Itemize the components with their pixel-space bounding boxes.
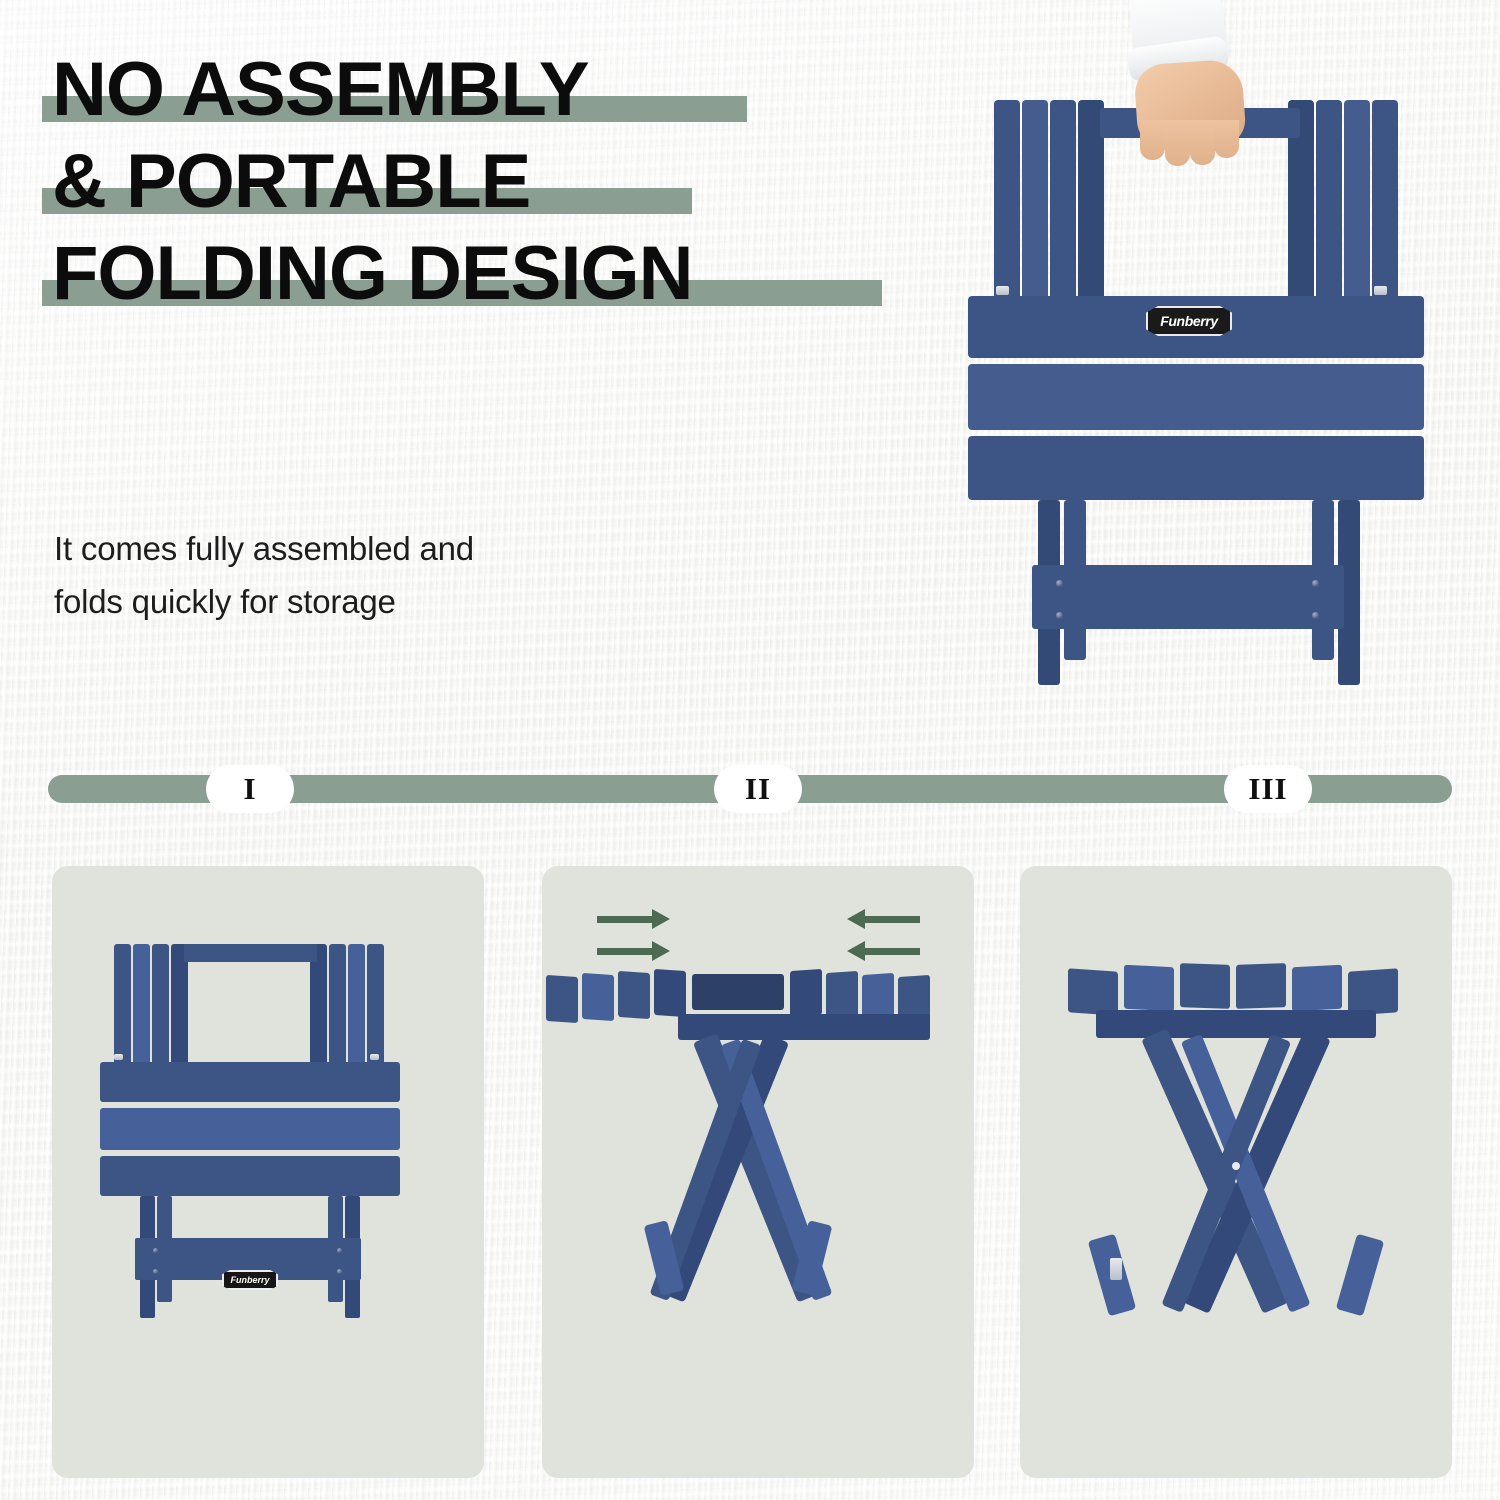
step-panel-1-folded: Funberry — [52, 866, 484, 1478]
arrow-left-icon — [864, 916, 920, 923]
screw — [153, 1269, 158, 1274]
headline-line-3-text: FOLDING DESIGN — [52, 231, 692, 316]
hinge-clip — [370, 1054, 379, 1060]
panel2-top-slat — [826, 971, 858, 1019]
hero-vertical-slat — [994, 100, 1020, 298]
hand-finger — [1214, 120, 1239, 158]
step-panel-2-unfolding — [542, 866, 974, 1478]
step-marker-2[interactable]: II — [714, 765, 802, 813]
panel1-vertical-slat — [329, 944, 346, 1064]
panel3-foot — [1336, 1234, 1384, 1317]
screw — [153, 1248, 158, 1253]
arrow-right-icon — [597, 916, 653, 923]
screw — [337, 1248, 342, 1253]
panel3-top-slat — [1348, 968, 1398, 1015]
panel2-top-slat — [582, 973, 614, 1021]
hinge-clip — [1374, 286, 1387, 295]
panel1-handle-bar — [184, 944, 317, 962]
latch-clip — [1110, 1258, 1122, 1280]
hero-vertical-slat — [1316, 100, 1342, 298]
headline-line-1: NO ASSEMBLY — [52, 52, 589, 128]
arrow-left-icon — [864, 948, 920, 955]
panel3-top-slat — [1124, 965, 1174, 1012]
panel3-top-slat — [1068, 968, 1118, 1015]
hero-table-slat — [968, 364, 1424, 430]
panel3-apron — [1096, 1010, 1376, 1038]
screw — [1312, 580, 1319, 587]
hinge-clip — [996, 286, 1009, 295]
hero-vertical-slat — [1344, 100, 1370, 298]
panel1-brand-badge: Funberry — [222, 1270, 278, 1290]
headline-line-1-text: NO ASSEMBLY — [52, 47, 589, 132]
hero-vertical-slat — [1372, 100, 1398, 298]
screw — [1056, 580, 1063, 587]
step-panel-3-open — [1020, 866, 1452, 1478]
step-marker-2-label: II — [745, 771, 771, 807]
panel1-vertical-slat — [114, 944, 131, 1064]
brand-badge: Funberry — [1146, 306, 1232, 336]
panel1-vertical-slat — [348, 944, 365, 1064]
subtext-line-2: folds quickly for storage — [54, 575, 474, 628]
panel2-top-slat — [618, 971, 650, 1019]
panel1-table-slat — [100, 1062, 400, 1102]
panel3-top-slat — [1180, 963, 1230, 1009]
headline-line-2: & PORTABLE — [52, 144, 530, 220]
subtext-line-1: It comes fully assembled and — [54, 522, 474, 575]
step-marker-3-label: III — [1248, 771, 1287, 807]
panel2-top-slat — [790, 969, 822, 1017]
panel1-vertical-slat — [133, 944, 150, 1064]
screw — [337, 1269, 342, 1274]
panel2-top-slat — [654, 969, 686, 1017]
hero-cross-rail — [1032, 565, 1344, 629]
subtext-block: It comes fully assembled and folds quick… — [54, 522, 474, 629]
panel1-table-slat — [100, 1156, 400, 1196]
step-marker-1-label: I — [243, 771, 256, 807]
headline-line-2-text: & PORTABLE — [52, 139, 530, 224]
screw — [1312, 612, 1319, 619]
hero-vertical-slat — [1050, 100, 1076, 298]
hero-table-slat — [968, 436, 1424, 500]
panel1-vertical-slat — [171, 944, 188, 1064]
screw — [1056, 612, 1063, 619]
hand-finger — [1165, 120, 1190, 166]
step-progress-bar: I II III — [48, 775, 1452, 803]
headline-line-3: FOLDING DESIGN — [52, 236, 692, 312]
hand-finger — [1190, 120, 1215, 165]
panel1-brand-label: Funberry — [230, 1275, 269, 1285]
panel3-top-slat — [1236, 963, 1286, 1009]
panel2-top-slat — [546, 975, 578, 1023]
hinge-clip — [114, 1054, 123, 1060]
panel1-vertical-slat — [367, 944, 384, 1064]
panel1-vertical-slat — [310, 944, 327, 1064]
brand-badge-label: Funberry — [1160, 313, 1217, 329]
arrow-right-icon — [597, 948, 653, 955]
panel1-table-slat — [100, 1108, 400, 1150]
step-marker-3[interactable]: III — [1224, 765, 1312, 813]
pivot-screw — [1232, 1162, 1240, 1170]
headline-block: NO ASSEMBLY & PORTABLE FOLDING DESIGN — [52, 52, 692, 328]
step-marker-1[interactable]: I — [206, 765, 294, 813]
panel2-center-recess — [692, 974, 784, 1010]
panel3-top-slat — [1292, 965, 1342, 1012]
hand-finger — [1140, 120, 1165, 160]
hero-product-image: Funberry — [960, 0, 1430, 710]
panel1-vertical-slat — [152, 944, 169, 1064]
hero-vertical-slat — [1022, 100, 1048, 298]
